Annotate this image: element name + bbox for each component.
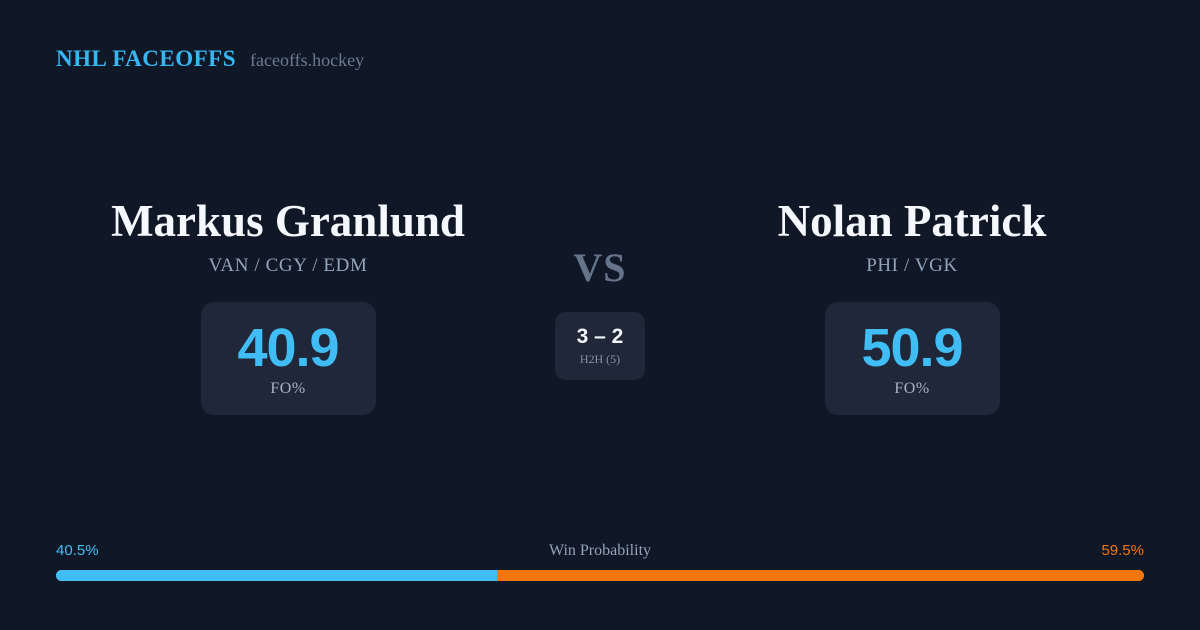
head-to-head-card: 3 – 2 H2H (5) [555, 312, 645, 380]
faceoff-stat-card-left: 40.9 FO% [201, 302, 376, 415]
faceoff-stat-label-right: FO% [894, 380, 929, 398]
faceoff-stat-label-left: FO% [270, 380, 305, 398]
win-probability-bar-left-fill [56, 570, 497, 581]
win-probability-bar [56, 570, 1144, 581]
win-probability-left-value: 40.5% [56, 540, 99, 562]
win-probability-bar-right-fill [497, 570, 1144, 581]
faceoff-percentage-left: 40.9 [237, 320, 338, 376]
win-probability-title: Win Probability [549, 540, 651, 562]
player-teams-left: VAN / CGY / EDM [48, 255, 528, 277]
player-name-right: Nolan Patrick [672, 195, 1152, 247]
player-name-left: Markus Granlund [48, 195, 528, 247]
player-teams-right: PHI / VGK [672, 255, 1152, 277]
player-card-left: Markus Granlund VAN / CGY / EDM 40.9 FO% [48, 195, 528, 415]
versus-section: VS 3 – 2 H2H (5) [500, 195, 700, 380]
brand-domain: faceoffs.hockey [250, 50, 364, 71]
faceoff-percentage-right: 50.9 [861, 320, 962, 376]
head-to-head-score: 3 – 2 [577, 325, 624, 349]
head-to-head-label: H2H (5) [580, 352, 620, 367]
win-probability-header: 40.5% Win Probability 59.5% [56, 540, 1144, 562]
versus-label: VS [500, 245, 700, 291]
matchup-section: Markus Granlund VAN / CGY / EDM 40.9 FO%… [0, 195, 1200, 430]
win-probability-section: 40.5% Win Probability 59.5% [56, 540, 1144, 581]
header: NHL FACEOFFS faceoffs.hockey [56, 46, 364, 72]
faceoff-stat-card-right: 50.9 FO% [825, 302, 1000, 415]
player-card-right: Nolan Patrick PHI / VGK 50.9 FO% [672, 195, 1152, 415]
brand-title: NHL FACEOFFS [56, 46, 236, 72]
win-probability-right-value: 59.5% [1101, 540, 1144, 562]
